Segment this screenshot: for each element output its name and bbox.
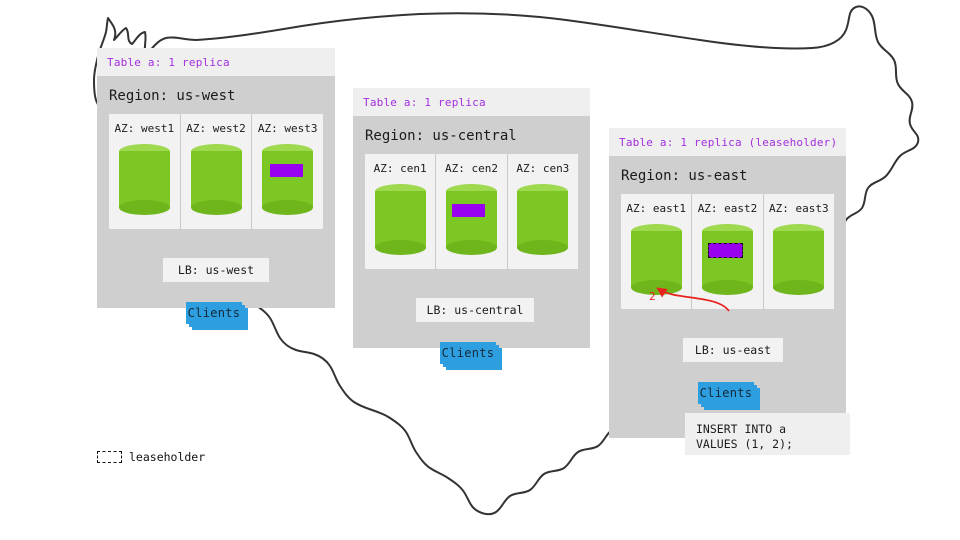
cylinder-bottom bbox=[191, 200, 242, 215]
cylinder-bottom bbox=[773, 280, 824, 295]
dashed-rect-icon bbox=[97, 451, 122, 463]
panel-body-us-west: Region: us-west AZ: west1 AZ: west2 bbox=[97, 76, 335, 308]
panel-body-us-central: Region: us-central AZ: cen1 AZ: cen2 bbox=[353, 116, 590, 348]
node-cylinder-cen1[interactable] bbox=[375, 184, 426, 255]
panel-header-us-central: Table a: 1 replica bbox=[353, 88, 590, 116]
az-west1[interactable]: AZ: west1 bbox=[109, 114, 180, 229]
leaseholder-replica-marker-east2 bbox=[708, 243, 743, 258]
clients-button-us-east[interactable]: Clients bbox=[698, 382, 754, 404]
arrow-step-label: 2 bbox=[649, 290, 656, 303]
panel-header-us-east: Table a: 1 replica (leaseholder) bbox=[609, 128, 846, 156]
clients-button-us-west[interactable]: Clients bbox=[186, 302, 242, 324]
az-label-west1: AZ: west1 bbox=[115, 122, 175, 135]
node-cylinder-cen3[interactable] bbox=[517, 184, 568, 255]
az-west2[interactable]: AZ: west2 bbox=[180, 114, 252, 229]
load-balancer-us-central[interactable]: LB: us-central bbox=[416, 298, 534, 322]
cylinder-bottom bbox=[446, 240, 497, 255]
az-label-cen3: AZ: cen3 bbox=[516, 162, 569, 175]
load-balancer-us-east[interactable]: LB: us-east bbox=[683, 338, 783, 362]
az-label-cen1: AZ: cen1 bbox=[374, 162, 427, 175]
clients-stack-us-east[interactable]: Clients bbox=[698, 382, 760, 410]
node-cylinder-east2[interactable] bbox=[702, 224, 753, 295]
panel-body-us-east: Region: us-east AZ: east1 AZ: east2 bbox=[609, 156, 846, 438]
region-panel-us-central: Table a: 1 replica Region: us-central AZ… bbox=[353, 88, 590, 348]
az-east3[interactable]: AZ: east3 bbox=[763, 194, 834, 309]
cylinder-bottom bbox=[517, 240, 568, 255]
az-label-west2: AZ: west2 bbox=[186, 122, 246, 135]
region-title-us-east: Region: us-east bbox=[609, 156, 846, 194]
az-east2[interactable]: AZ: east2 bbox=[691, 194, 762, 309]
cylinder-bottom bbox=[702, 280, 753, 295]
legend-label: leaseholder bbox=[129, 450, 205, 464]
replica-marker-west3 bbox=[270, 164, 303, 177]
panel-header-us-west: Table a: 1 replica bbox=[97, 48, 335, 76]
load-balancer-us-west[interactable]: LB: us-west bbox=[163, 258, 269, 282]
region-panel-us-east: Table a: 1 replica (leaseholder) Region:… bbox=[609, 128, 846, 438]
az-label-east3: AZ: east3 bbox=[769, 202, 829, 215]
az-cen3[interactable]: AZ: cen3 bbox=[507, 154, 578, 269]
cylinder-bottom bbox=[631, 280, 682, 295]
diagram-canvas: Table a: 1 replica Region: us-west AZ: w… bbox=[0, 0, 960, 540]
sql-statement-box: INSERT INTO a VALUES (1, 2); bbox=[685, 413, 850, 455]
az-label-east1: AZ: east1 bbox=[626, 202, 686, 215]
node-cylinder-west2[interactable] bbox=[191, 144, 242, 215]
az-label-cen2: AZ: cen2 bbox=[445, 162, 498, 175]
az-cen2[interactable]: AZ: cen2 bbox=[435, 154, 506, 269]
node-cylinder-cen2[interactable] bbox=[446, 184, 497, 255]
az-label-east2: AZ: east2 bbox=[698, 202, 758, 215]
node-cylinder-west3[interactable] bbox=[262, 144, 313, 215]
az-row-us-central: AZ: cen1 AZ: cen2 bbox=[365, 154, 578, 269]
region-title-us-central: Region: us-central bbox=[353, 116, 590, 154]
az-row-us-west: AZ: west1 AZ: west2 AZ bbox=[109, 114, 323, 229]
cylinder-bottom bbox=[262, 200, 313, 215]
az-east1[interactable]: AZ: east1 bbox=[621, 194, 691, 309]
clients-stack-us-central[interactable]: Clients bbox=[440, 342, 502, 370]
clients-button-us-central[interactable]: Clients bbox=[440, 342, 496, 364]
clients-stack-us-west[interactable]: Clients bbox=[186, 302, 248, 330]
region-panel-us-west: Table a: 1 replica Region: us-west AZ: w… bbox=[97, 48, 335, 308]
cylinder-bottom bbox=[119, 200, 170, 215]
node-cylinder-west1[interactable] bbox=[119, 144, 170, 215]
az-west3[interactable]: AZ: west3 bbox=[251, 114, 323, 229]
node-cylinder-east1[interactable] bbox=[631, 224, 682, 295]
cylinder-bottom bbox=[375, 240, 426, 255]
replica-marker-cen2 bbox=[452, 204, 485, 217]
az-cen1[interactable]: AZ: cen1 bbox=[365, 154, 435, 269]
az-label-west3: AZ: west3 bbox=[258, 122, 318, 135]
region-title-us-west: Region: us-west bbox=[97, 76, 335, 114]
node-cylinder-east3[interactable] bbox=[773, 224, 824, 295]
legend: leaseholder bbox=[97, 450, 205, 464]
